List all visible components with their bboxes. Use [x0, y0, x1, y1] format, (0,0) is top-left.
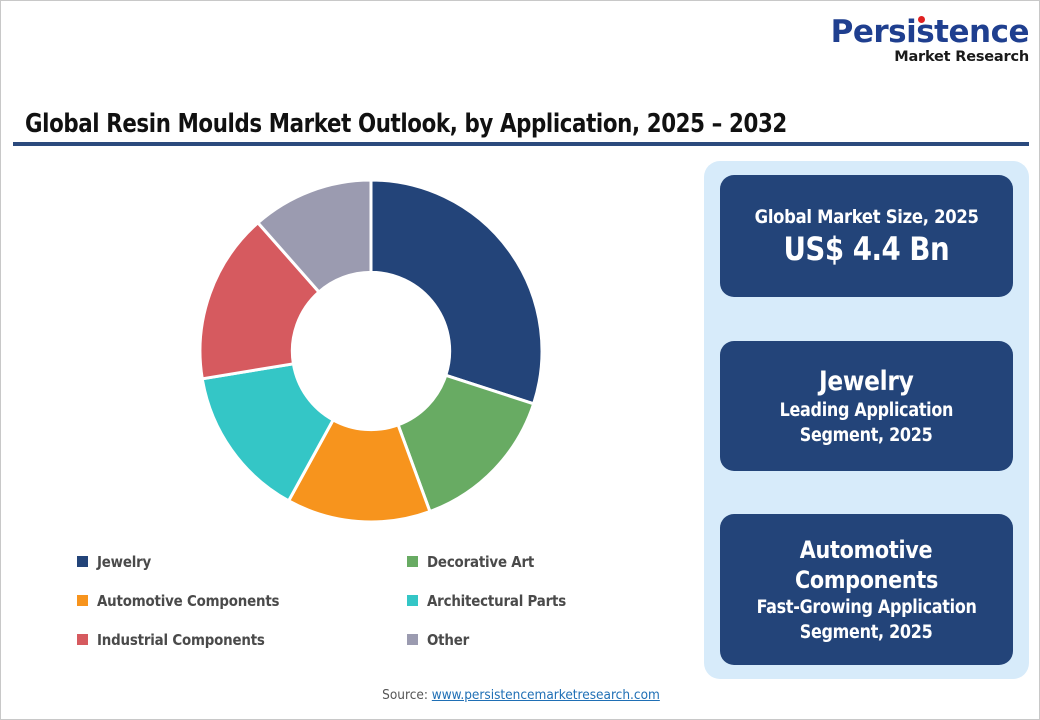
fast-growing-segment-name-line1: Automotive [800, 535, 933, 565]
infographic-page: Persistence Market Research Global Resin… [0, 0, 1040, 720]
legend-item[interactable]: Architectural Parts [407, 592, 697, 610]
stat-card-market-size[interactable]: Global Market Size, 2025 US$ 4.4 Bn [720, 175, 1013, 297]
market-size-value: US$ 4.4 Bn [784, 230, 950, 269]
legend-swatch-icon [77, 595, 88, 606]
stat-card-fast-growing-segment[interactable]: Automotive Components Fast-Growing Appli… [720, 514, 1013, 665]
leading-segment-sub-line2: Segment, 2025 [800, 423, 933, 448]
legend-item[interactable]: Other [407, 631, 697, 649]
legend-item[interactable]: Industrial Components [77, 631, 407, 649]
company-logo: Persistence Market Research [825, 15, 1029, 71]
donut-slices [200, 180, 542, 522]
donut-chart-svg [199, 179, 543, 523]
title-divider [13, 142, 1029, 146]
donut-slice[interactable] [371, 180, 542, 404]
page-title: Global Resin Moulds Market Outlook, by A… [25, 109, 936, 139]
leading-segment-name: Jewelry [819, 365, 914, 398]
legend-swatch-icon [77, 634, 88, 645]
legend-item[interactable]: Automotive Components [77, 592, 407, 610]
fast-growing-segment-name-line2: Components [795, 565, 938, 595]
stat-card-leading-segment[interactable]: Jewelry Leading Application Segment, 202… [720, 341, 1013, 471]
legend-item[interactable]: Jewelry [77, 553, 407, 571]
legend-item-label: Architectural Parts [427, 592, 566, 610]
legend-item-label: Automotive Components [97, 592, 279, 610]
logo-wordmark-text: Persistence [831, 14, 1029, 50]
source-link[interactable]: www.persistencemarketresearch.com [432, 687, 660, 703]
source-line: Source: www.persistencemarketresearch.co… [1, 687, 1040, 703]
legend-item[interactable]: Decorative Art [407, 553, 697, 571]
legend-item-label: Decorative Art [427, 553, 534, 571]
legend-swatch-icon [407, 595, 418, 606]
logo-tagline: Market Research [825, 49, 1029, 66]
legend-item-label: Other [427, 631, 469, 649]
legend-swatch-icon [407, 556, 418, 567]
logo-wordmark: Persistence [831, 15, 1029, 49]
fast-growing-segment-sub-line2: Segment, 2025 [800, 620, 933, 645]
leading-segment-sub-line1: Leading Application [780, 398, 954, 423]
chart-area [13, 156, 683, 546]
donut-chart [199, 179, 543, 523]
legend-swatch-icon [77, 556, 88, 567]
legend-item-label: Jewelry [97, 553, 151, 571]
legend-swatch-icon [407, 634, 418, 645]
legend-item-label: Industrial Components [97, 631, 265, 649]
market-size-label: Global Market Size, 2025 [755, 204, 979, 230]
chart-legend: JewelryDecorative ArtAutomotive Componen… [77, 542, 697, 659]
logo-dot-icon [918, 16, 925, 23]
fast-growing-segment-sub-line1: Fast-Growing Application [756, 595, 976, 620]
source-label: Source: [382, 687, 432, 703]
stats-panel: Global Market Size, 2025 US$ 4.4 Bn Jewe… [704, 161, 1029, 679]
